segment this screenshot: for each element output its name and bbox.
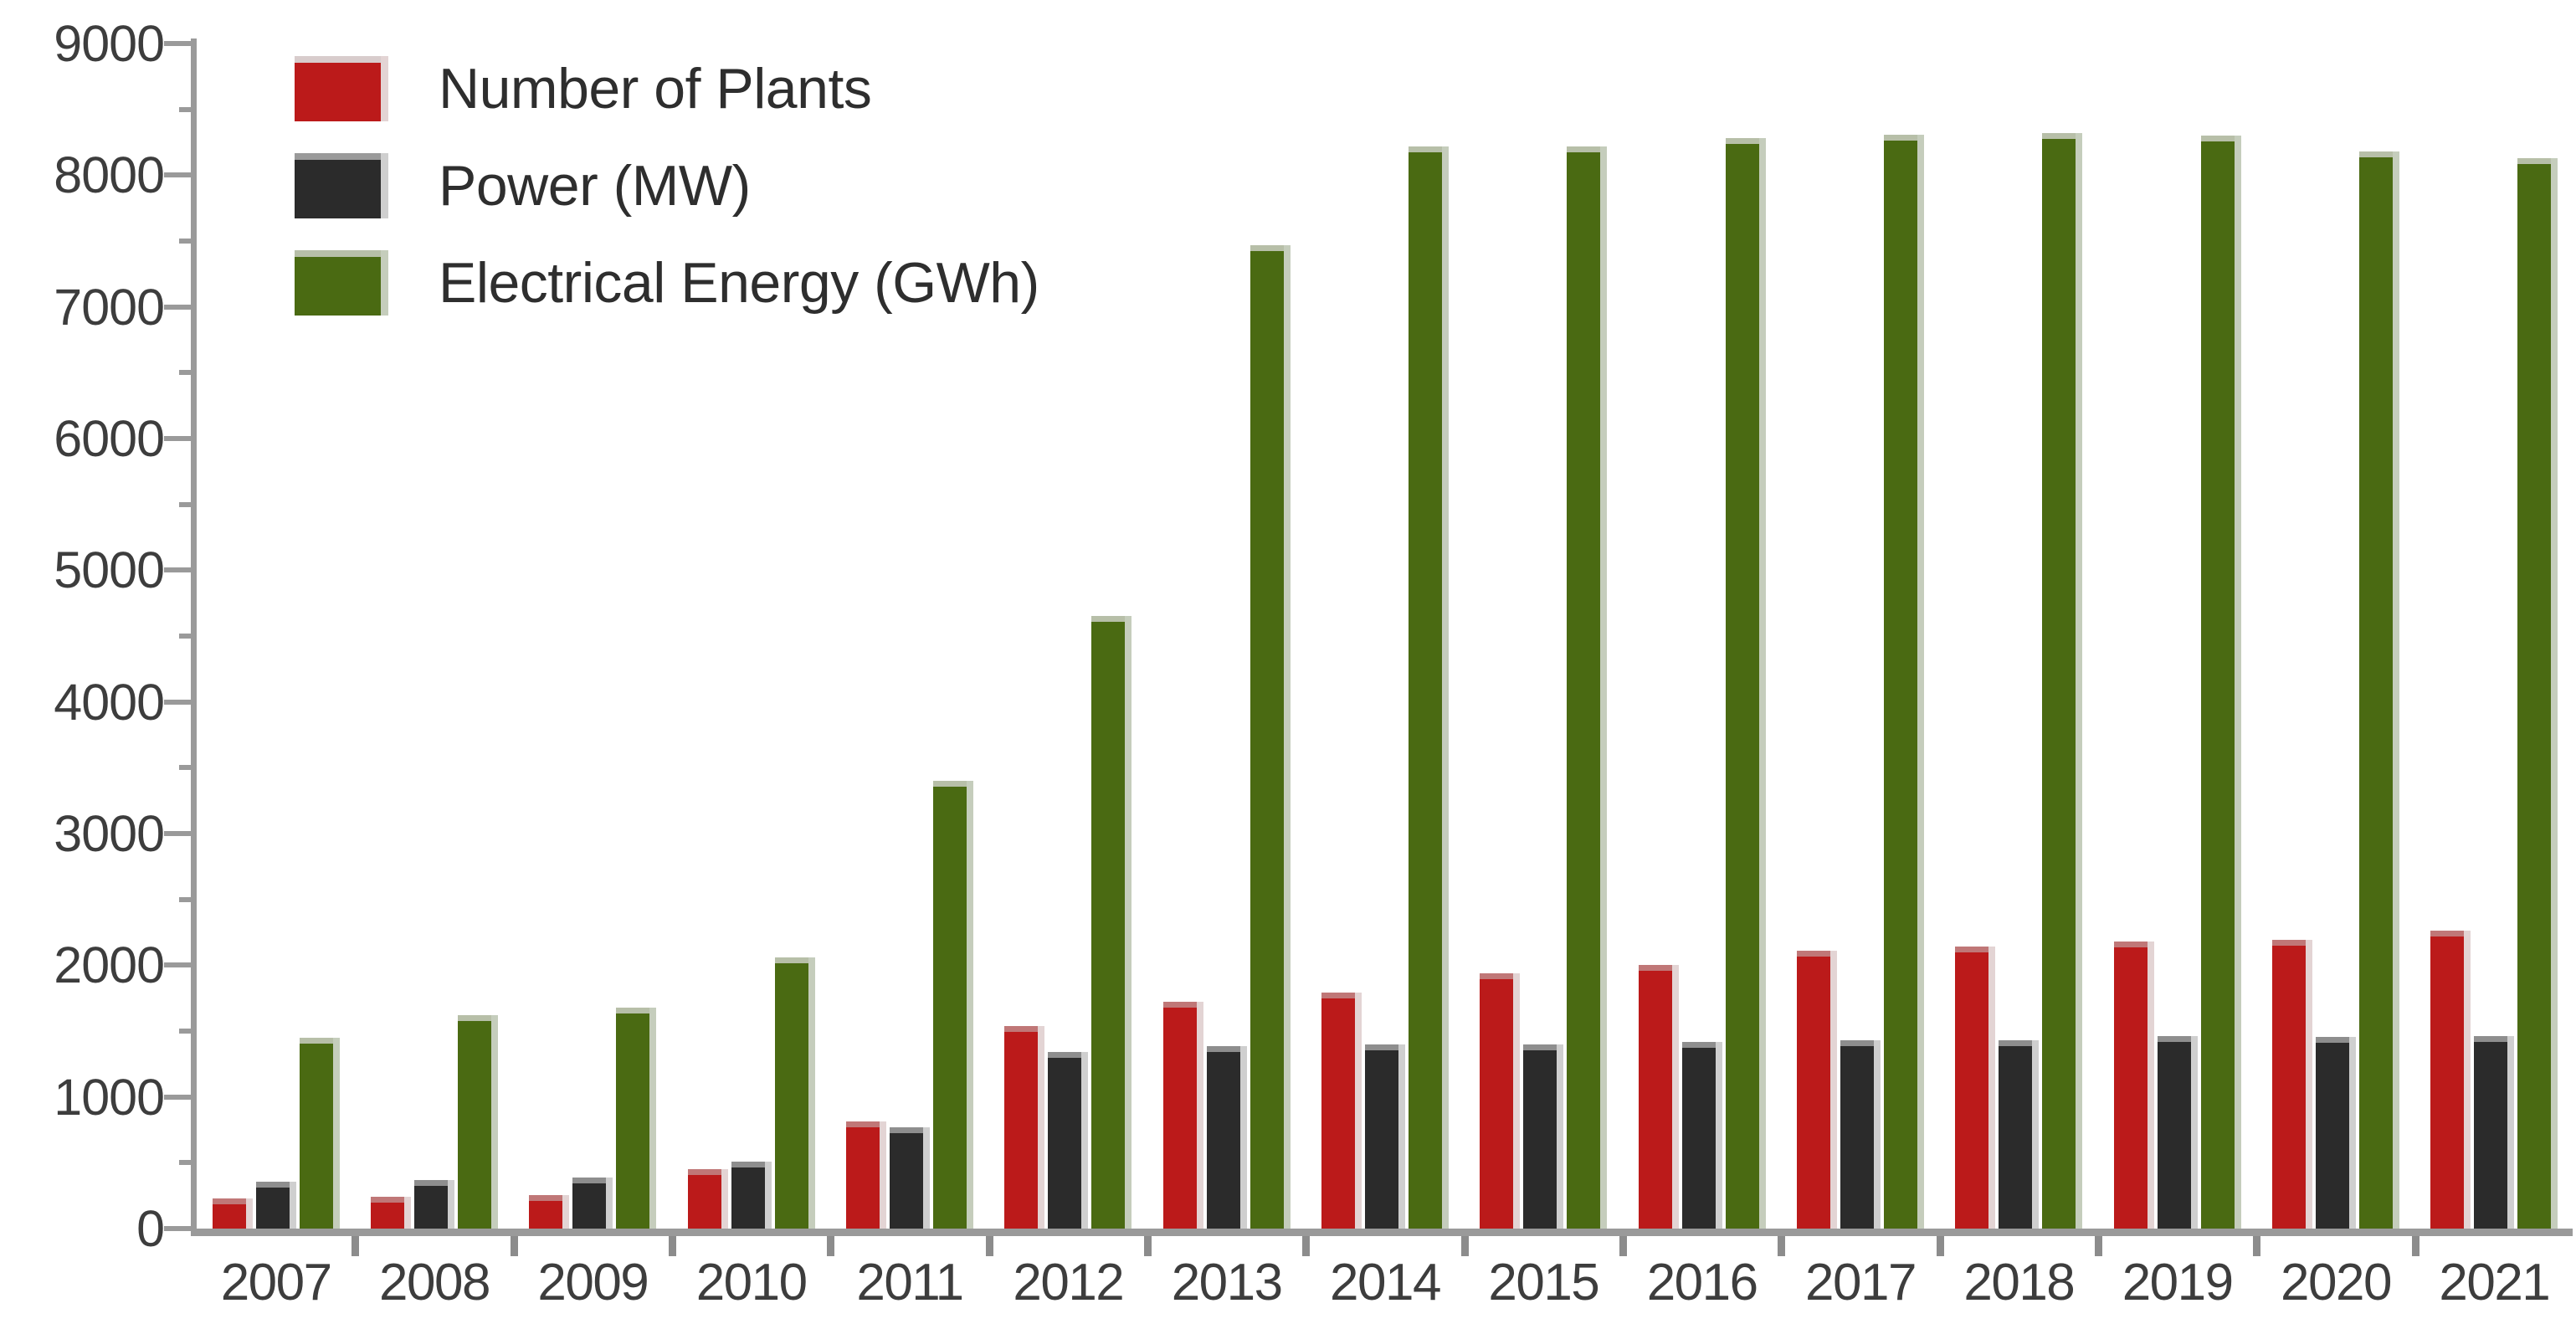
y-axis-tick-label: 2000 bbox=[54, 936, 164, 994]
bar-energy-2007[interactable] bbox=[300, 1038, 340, 1229]
x-axis-tick-label-2013: 2013 bbox=[1172, 1253, 1282, 1312]
legend-swatch-number-of-plants-icon bbox=[295, 56, 388, 121]
bar-energy-2021[interactable] bbox=[2517, 158, 2558, 1229]
bar-plants-2009[interactable] bbox=[529, 1195, 569, 1229]
bar-energy-2019[interactable] bbox=[2201, 136, 2241, 1229]
y-axis-tick-major bbox=[164, 172, 196, 177]
bar-power-2019[interactable] bbox=[2158, 1036, 2198, 1229]
legend-swatch-power-icon bbox=[295, 153, 388, 218]
y-axis-tick-label: 1000 bbox=[54, 1068, 164, 1126]
x-axis-tick-label-2015: 2015 bbox=[1488, 1253, 1598, 1312]
bar-chart: 0100020003000400050006000700080009000 20… bbox=[0, 0, 2576, 1329]
bar-plants-2015[interactable] bbox=[1480, 973, 1520, 1229]
x-axis-tick-label-2012: 2012 bbox=[1013, 1253, 1123, 1312]
y-axis-tick-label: 4000 bbox=[54, 673, 164, 731]
y-axis-tick-label: 0 bbox=[136, 1199, 164, 1258]
bar-group-2019 bbox=[2098, 44, 2256, 1229]
y-axis-tick-minor bbox=[179, 634, 196, 639]
bar-power-2020[interactable] bbox=[2316, 1037, 2356, 1229]
x-axis-tick bbox=[1778, 1236, 1785, 1256]
x-axis-tick-label-2018: 2018 bbox=[1963, 1253, 2074, 1312]
x-axis-tick-label-2017: 2017 bbox=[1805, 1253, 1916, 1312]
bar-energy-2015[interactable] bbox=[1567, 146, 1607, 1229]
x-axis-tick-label-2016: 2016 bbox=[1647, 1253, 1758, 1312]
bar-plants-2016[interactable] bbox=[1639, 965, 1679, 1229]
legend-swatch-electrical-energy-icon bbox=[295, 250, 388, 316]
x-axis-tick bbox=[2253, 1236, 2260, 1256]
bar-energy-2018[interactable] bbox=[2042, 133, 2082, 1229]
y-axis-tick-label: 9000 bbox=[54, 14, 164, 73]
bar-power-2013[interactable] bbox=[1207, 1046, 1247, 1229]
y-axis-tick-minor bbox=[179, 1029, 196, 1034]
x-axis-tick bbox=[1144, 1236, 1152, 1256]
x-axis-tick-label-2011: 2011 bbox=[856, 1253, 962, 1312]
y-axis-tick-minor bbox=[179, 239, 196, 244]
y-axis-tick-major bbox=[164, 1095, 196, 1100]
x-axis-tick bbox=[511, 1236, 518, 1256]
bar-power-2009[interactable] bbox=[572, 1178, 613, 1229]
y-axis-tick-label: 6000 bbox=[54, 409, 164, 468]
y-axis-tick-major bbox=[164, 305, 196, 310]
bar-energy-2013[interactable] bbox=[1250, 245, 1291, 1229]
bar-plants-2011[interactable] bbox=[846, 1121, 886, 1229]
bar-group-2016 bbox=[1623, 44, 1781, 1229]
bar-plants-2007[interactable] bbox=[213, 1198, 253, 1229]
y-axis-tick-minor bbox=[179, 1160, 196, 1165]
x-axis-tick-label-2010: 2010 bbox=[696, 1253, 807, 1312]
bar-power-2021[interactable] bbox=[2474, 1036, 2514, 1229]
bar-group-2014 bbox=[1306, 44, 1464, 1229]
bar-power-2017[interactable] bbox=[1840, 1040, 1881, 1229]
y-axis-tick-major bbox=[164, 831, 196, 836]
bar-plants-2020[interactable] bbox=[2272, 940, 2312, 1229]
bar-power-2018[interactable] bbox=[1999, 1040, 2039, 1229]
bar-energy-2016[interactable] bbox=[1726, 138, 1766, 1229]
legend-label-electrical-energy: Electrical Energy (GWh) bbox=[439, 250, 1039, 316]
legend-label-number-of-plants: Number of Plants bbox=[439, 56, 871, 121]
bar-group-2017 bbox=[1781, 44, 1939, 1229]
bar-energy-2012[interactable] bbox=[1091, 616, 1131, 1229]
y-axis-tick-label: 3000 bbox=[54, 804, 164, 863]
x-axis-tick bbox=[986, 1236, 993, 1256]
bar-power-2008[interactable] bbox=[414, 1180, 454, 1229]
bar-plants-2012[interactable] bbox=[1004, 1026, 1044, 1229]
y-axis-tick-minor bbox=[179, 107, 196, 112]
bar-plants-2019[interactable] bbox=[2114, 942, 2154, 1229]
bar-plants-2014[interactable] bbox=[1321, 993, 1362, 1229]
x-axis-line bbox=[191, 1229, 2573, 1236]
legend-label-power: Power (MW) bbox=[439, 153, 751, 218]
y-axis-tick-major bbox=[164, 700, 196, 705]
x-axis-tick-label-2019: 2019 bbox=[2122, 1253, 2233, 1312]
bar-energy-2020[interactable] bbox=[2359, 151, 2399, 1229]
bar-power-2007[interactable] bbox=[256, 1182, 296, 1229]
y-axis-tick-minor bbox=[179, 370, 196, 375]
x-axis-tick bbox=[1302, 1236, 1310, 1256]
bar-plants-2013[interactable] bbox=[1163, 1002, 1203, 1229]
bar-energy-2008[interactable] bbox=[458, 1015, 498, 1229]
bar-group-2018 bbox=[1940, 44, 2098, 1229]
bar-power-2016[interactable] bbox=[1682, 1042, 1722, 1229]
x-axis-tick-label-2008: 2008 bbox=[379, 1253, 490, 1312]
y-axis-tick-major bbox=[164, 41, 196, 46]
x-axis-tick bbox=[669, 1236, 676, 1256]
bar-energy-2011[interactable] bbox=[933, 781, 973, 1229]
bar-plants-2010[interactable] bbox=[688, 1169, 728, 1229]
x-axis-tick bbox=[827, 1236, 834, 1256]
bar-energy-2014[interactable] bbox=[1409, 146, 1449, 1229]
bar-power-2011[interactable] bbox=[890, 1127, 930, 1229]
bar-power-2010[interactable] bbox=[731, 1162, 772, 1229]
y-axis-tick-minor bbox=[179, 502, 196, 507]
bar-energy-2010[interactable] bbox=[775, 957, 815, 1229]
bar-power-2014[interactable] bbox=[1365, 1044, 1405, 1229]
bar-energy-2009[interactable] bbox=[616, 1008, 656, 1229]
legend-item-number-of-plants[interactable]: Number of Plants bbox=[295, 50, 1039, 127]
y-axis-tick-minor bbox=[179, 765, 196, 770]
x-axis-tick bbox=[1937, 1236, 1944, 1256]
y-axis-tick-label: 7000 bbox=[54, 278, 164, 336]
bar-group-2013 bbox=[1147, 44, 1306, 1229]
bar-plants-2008[interactable] bbox=[371, 1197, 411, 1229]
x-axis-tick bbox=[352, 1236, 359, 1256]
x-axis-tick-label-2007: 2007 bbox=[221, 1253, 331, 1312]
x-axis-tick bbox=[1461, 1236, 1469, 1256]
legend-item-electrical-energy[interactable]: Electrical Energy (GWh) bbox=[295, 244, 1039, 321]
bar-plants-2018[interactable] bbox=[1955, 947, 1995, 1229]
x-axis-tick bbox=[2412, 1236, 2419, 1256]
bar-energy-2017[interactable] bbox=[1884, 135, 1924, 1229]
bar-power-2012[interactable] bbox=[1048, 1052, 1088, 1229]
bar-group-2020 bbox=[2256, 44, 2414, 1229]
bar-group-2015 bbox=[1465, 44, 1623, 1229]
bar-plants-2021[interactable] bbox=[2430, 931, 2471, 1229]
y-axis-tick-label: 8000 bbox=[54, 146, 164, 204]
x-axis-tick-label-2021: 2021 bbox=[2439, 1253, 2549, 1312]
y-axis-tick-major bbox=[164, 436, 196, 441]
legend-item-power[interactable]: Power (MW) bbox=[295, 147, 1039, 224]
x-axis-tick bbox=[2095, 1236, 2102, 1256]
y-axis-tick-major bbox=[164, 567, 196, 572]
x-axis-tick bbox=[1619, 1236, 1627, 1256]
x-axis-tick-label-2009: 2009 bbox=[537, 1253, 648, 1312]
x-axis-tick-label-2020: 2020 bbox=[2281, 1253, 2391, 1312]
y-axis-tick-minor bbox=[179, 897, 196, 902]
x-axis-tick-label-2014: 2014 bbox=[1330, 1253, 1440, 1312]
y-axis-tick-label: 5000 bbox=[54, 541, 164, 599]
bar-group-2021 bbox=[2415, 44, 2573, 1229]
y-axis-tick-major bbox=[164, 962, 196, 967]
bar-plants-2017[interactable] bbox=[1797, 951, 1837, 1229]
chart-legend: Number of Plants Power (MW) Electrical E… bbox=[295, 50, 1039, 341]
bar-power-2015[interactable] bbox=[1523, 1044, 1563, 1229]
